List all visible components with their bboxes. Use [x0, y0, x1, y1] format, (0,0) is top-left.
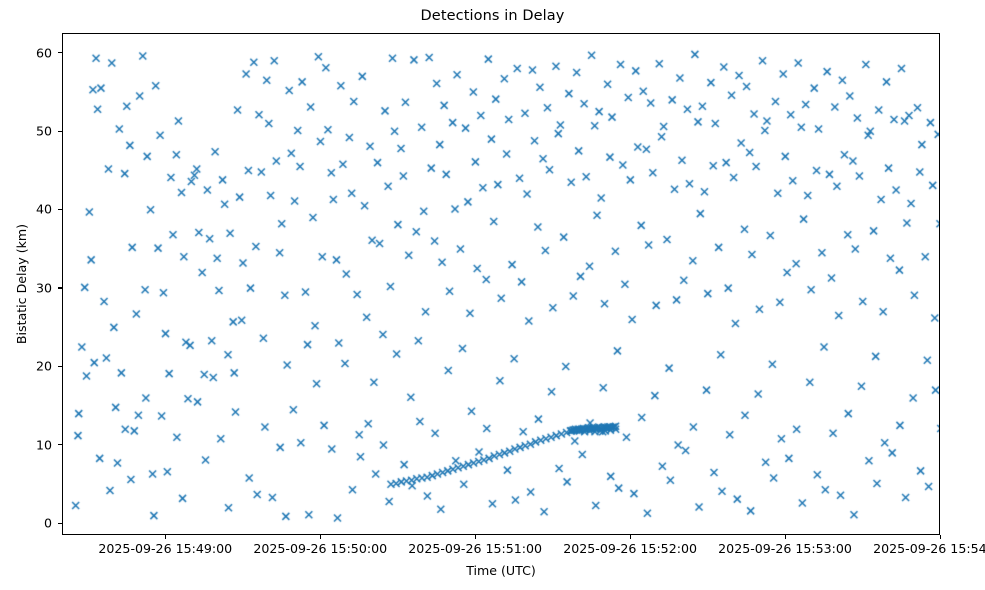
y-tick-mark — [58, 131, 62, 132]
plot-area[interactable] — [62, 33, 940, 535]
chart-title: Detections in Delay — [0, 8, 985, 24]
chart-figure: Detections in Delay 2025-09-26 15:49:002… — [0, 0, 985, 590]
y-tick-mark — [58, 287, 62, 288]
x-tick-mark — [320, 535, 321, 539]
scatter-canvas — [63, 34, 940, 535]
x-axis-label: Time (UTC) — [62, 563, 940, 578]
x-tick-mark — [785, 535, 786, 539]
y-tick-mark — [58, 366, 62, 367]
x-tick-label: 2025-09-26 15:51:00 — [408, 541, 542, 556]
x-tick-label: 2025-09-26 15:50:00 — [253, 541, 387, 556]
x-tick-mark — [630, 535, 631, 539]
x-tick-label: 2025-09-26 15:54:00 — [873, 541, 985, 556]
x-tick-mark — [475, 535, 476, 539]
y-tick-mark — [58, 52, 62, 53]
x-tick-label: 2025-09-26 15:52:00 — [563, 541, 697, 556]
x-tick-mark — [940, 535, 941, 539]
y-tick-mark — [58, 523, 62, 524]
x-tick-label: 2025-09-26 15:53:00 — [718, 541, 852, 556]
x-tick-label: 2025-09-26 15:49:00 — [98, 541, 232, 556]
x-tick-mark — [165, 535, 166, 539]
y-axis-label: Bistatic Delay (km) — [14, 33, 30, 535]
y-tick-mark — [58, 209, 62, 210]
y-tick-mark — [58, 444, 62, 445]
